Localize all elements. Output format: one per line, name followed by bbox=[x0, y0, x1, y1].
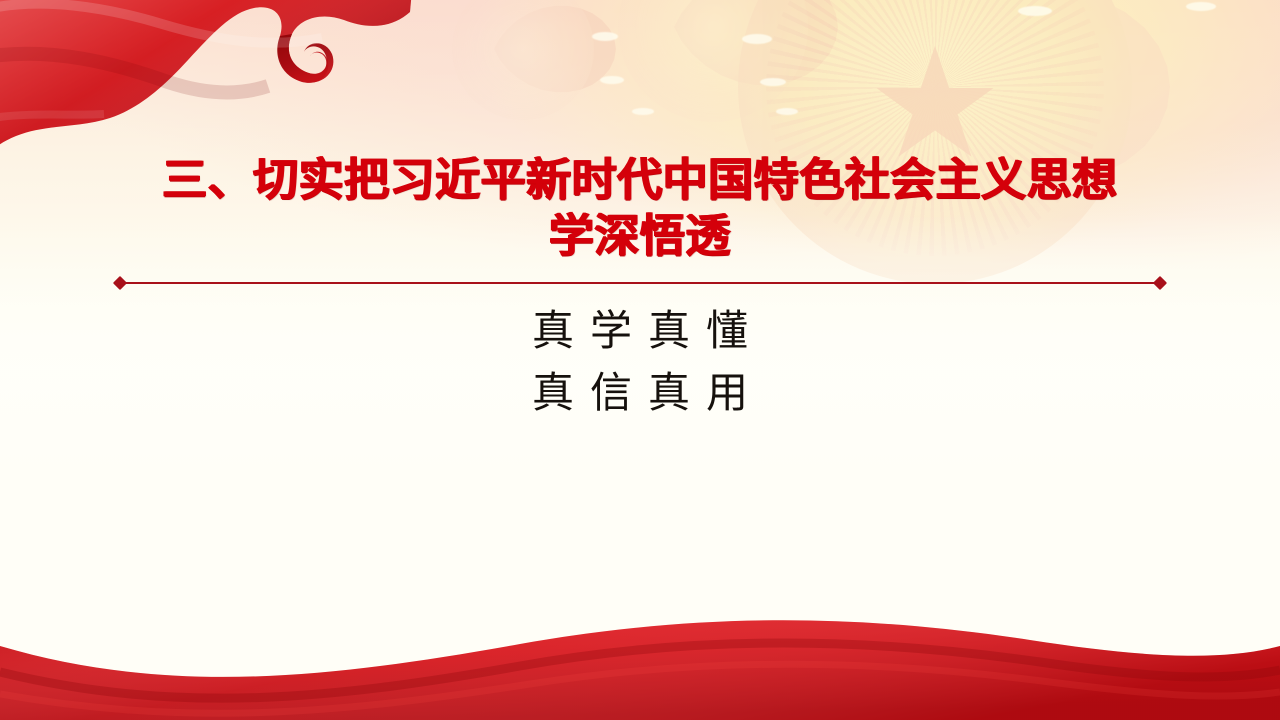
title-line-2: 学深悟透 bbox=[0, 208, 1280, 264]
slide-title: 三、切实把习近平新时代中国特色社会主义思想 学深悟透 bbox=[0, 152, 1280, 264]
red-wave-ribbon bbox=[0, 600, 1280, 720]
presentation-slide: 三、切实把习近平新时代中国特色社会主义思想 学深悟透 真学真懂 真信真用 bbox=[0, 0, 1280, 720]
horizontal-divider bbox=[115, 277, 1165, 289]
title-line-1: 三、切实把习近平新时代中国特色社会主义思想 bbox=[0, 152, 1280, 208]
body-line-2: 真信真用 bbox=[0, 362, 1280, 424]
slide-body: 真学真懂 真信真用 bbox=[0, 300, 1280, 424]
divider-diamond-right-icon bbox=[1153, 276, 1167, 290]
body-line-1: 真学真懂 bbox=[0, 300, 1280, 362]
divider-line bbox=[120, 282, 1160, 284]
